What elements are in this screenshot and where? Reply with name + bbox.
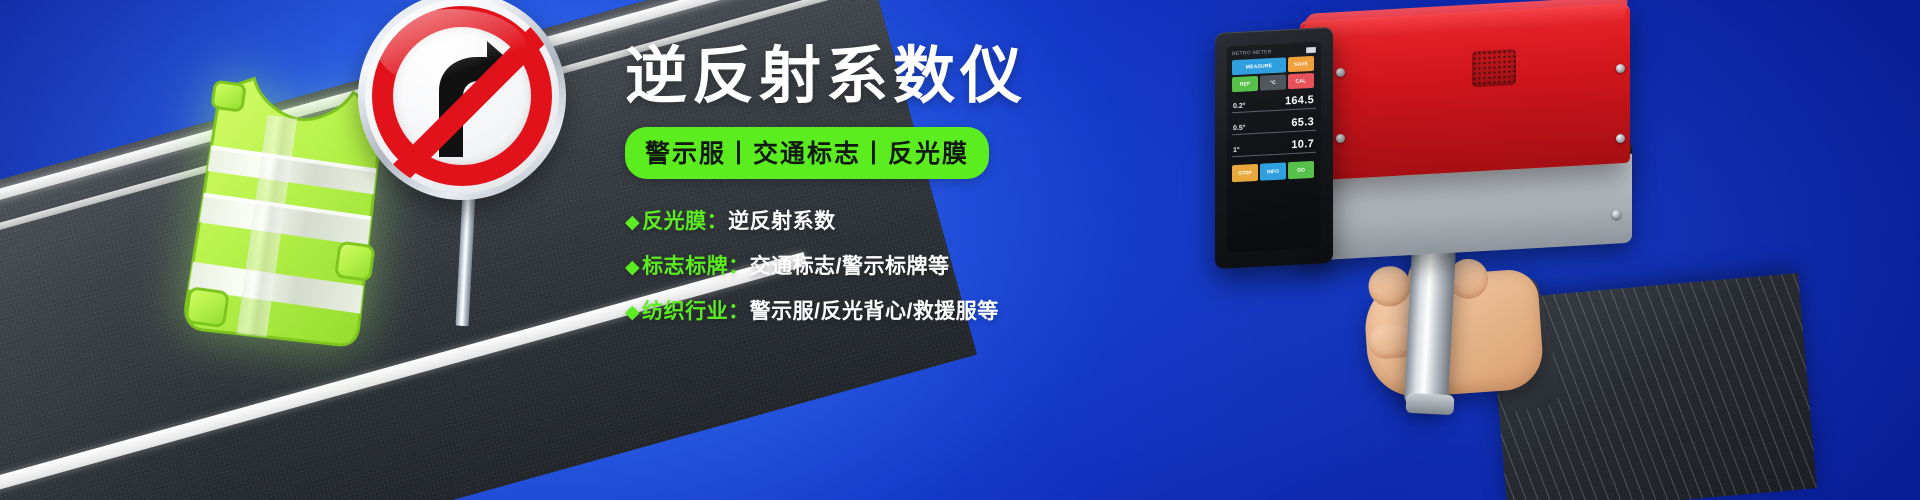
device-handle bbox=[1404, 239, 1457, 409]
device-lcd-screen[interactable]: RETRO METER MEASURE SAVE REF °C CAL 0.2°… bbox=[1227, 42, 1321, 253]
finger bbox=[1367, 265, 1412, 308]
screw bbox=[1616, 134, 1625, 143]
feature-value: 逆反射系数 bbox=[728, 205, 836, 235]
reading-value: 10.7 bbox=[1291, 138, 1314, 151]
go-button[interactable]: GO bbox=[1288, 161, 1314, 179]
device-handle-cap bbox=[1406, 393, 1455, 415]
screen-header-label: RETRO METER bbox=[1232, 49, 1272, 57]
stop-button[interactable]: STOP bbox=[1232, 164, 1258, 182]
info-button[interactable]: INFO bbox=[1260, 162, 1286, 180]
chip-measure[interactable]: MEASURE bbox=[1232, 57, 1286, 75]
reading-angle: 0.2° bbox=[1233, 102, 1246, 110]
banner-copy: 逆反射系数仪 警示服丨交通标志丨反光膜 ◆ 反光膜： 逆反射系数 ◆ 标志标牌：… bbox=[625, 44, 1085, 340]
feature-value: 警示服/反光背心/救援服等 bbox=[750, 295, 999, 325]
device-speaker-grill bbox=[1472, 49, 1516, 87]
chip-ref[interactable]: REF bbox=[1232, 76, 1258, 92]
battery-icon bbox=[1306, 47, 1316, 54]
screen-action-buttons: STOP INFO GO bbox=[1232, 161, 1316, 182]
reading-row: 1° 10.7 bbox=[1232, 137, 1316, 157]
category-badge: 警示服丨交通标志丨反光膜 bbox=[625, 127, 989, 179]
diamond-icon: ◆ bbox=[625, 211, 640, 234]
feature-key: 纺织行业： bbox=[642, 295, 750, 325]
feature-value: 交通标志/警示标牌等 bbox=[750, 250, 950, 280]
feature-key: 标志标牌： bbox=[642, 250, 750, 280]
device-screen-housing: RETRO METER MEASURE SAVE REF °C CAL 0.2°… bbox=[1215, 27, 1333, 269]
list-item: ◆ 纺织行业： 警示服/反光背心/救援服等 bbox=[625, 295, 1085, 325]
feature-list: ◆ 反光膜： 逆反射系数 ◆ 标志标牌： 交通标志/警示标牌等 ◆ 纺织行业： … bbox=[625, 205, 1085, 325]
retroreflectometer-graphic: RETRO METER MEASURE SAVE REF °C CAL 0.2°… bbox=[1180, 2, 1800, 500]
screen-readings: 0.2° 164.5 0.5° 65.3 1° 10.7 bbox=[1232, 93, 1316, 157]
screw bbox=[1336, 68, 1345, 77]
diamond-icon: ◆ bbox=[625, 256, 640, 279]
reading-value: 65.3 bbox=[1291, 116, 1314, 129]
chip-cal[interactable]: CAL bbox=[1288, 73, 1314, 89]
diamond-icon: ◆ bbox=[625, 301, 640, 324]
reading-value: 164.5 bbox=[1285, 94, 1314, 108]
screw bbox=[1612, 210, 1621, 219]
chip-unit[interactable]: °C bbox=[1260, 74, 1286, 90]
reading-row: 0.5° 65.3 bbox=[1232, 115, 1316, 135]
promo-banner: 逆反射系数仪 警示服丨交通标志丨反光膜 ◆ 反光膜： 逆反射系数 ◆ 标志标牌：… bbox=[0, 0, 1920, 500]
chip-save[interactable]: SAVE bbox=[1288, 56, 1314, 72]
list-item: ◆ 反光膜： 逆反射系数 bbox=[625, 205, 1085, 235]
no-right-turn-sign bbox=[352, 0, 584, 318]
page-title: 逆反射系数仪 bbox=[625, 44, 1085, 111]
reading-row: 0.2° 164.5 bbox=[1232, 93, 1316, 113]
feature-key: 反光膜： bbox=[642, 205, 728, 235]
sign-disc bbox=[358, 0, 566, 200]
reading-angle: 0.5° bbox=[1233, 124, 1246, 132]
screen-mode-chips: MEASURE SAVE REF °C CAL bbox=[1232, 56, 1316, 92]
screw bbox=[1336, 134, 1345, 143]
screw bbox=[1616, 64, 1625, 73]
sign-face bbox=[365, 0, 559, 193]
reading-angle: 1° bbox=[1233, 147, 1240, 154]
list-item: ◆ 标志标牌： 交通标志/警示标牌等 bbox=[625, 250, 1085, 280]
